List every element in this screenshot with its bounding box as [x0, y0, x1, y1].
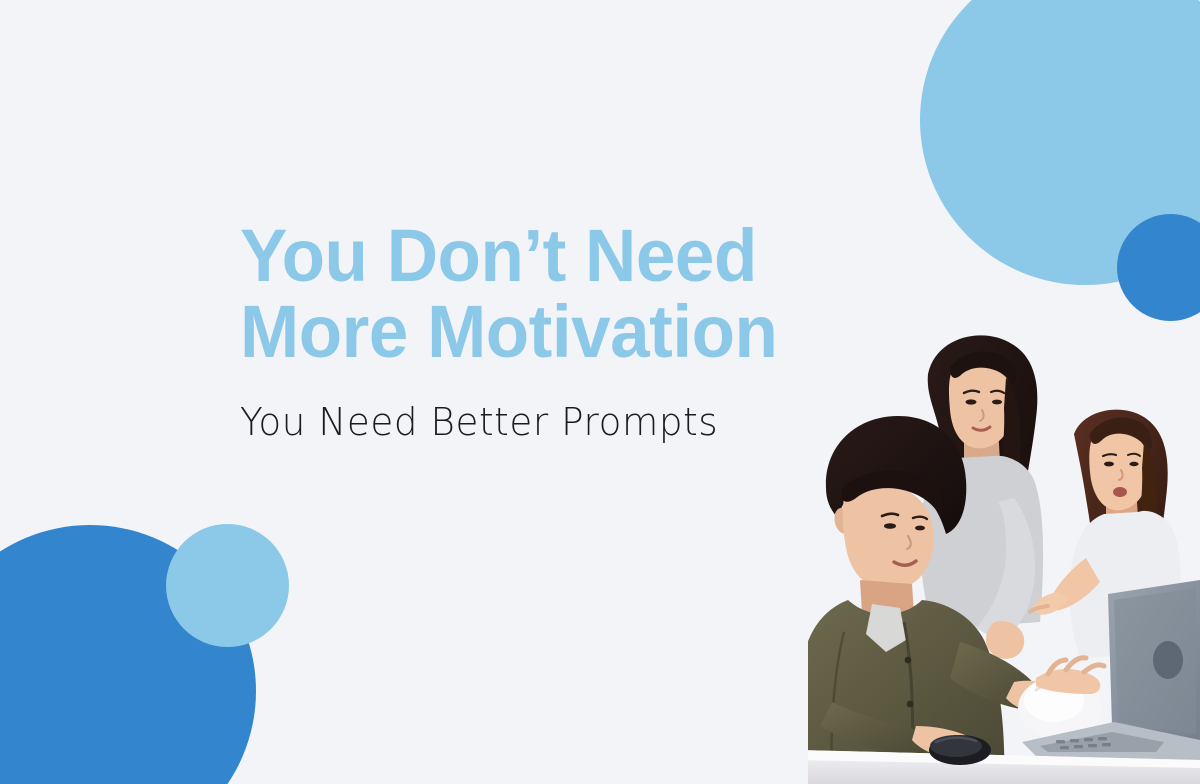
computer-mouse	[929, 735, 991, 765]
slide-canvas: You Don’t Need More Motivation You Need …	[0, 0, 1200, 784]
hands	[1036, 658, 1104, 694]
team-photo	[808, 322, 1200, 784]
circle-bottom-left-light-icon	[166, 524, 289, 647]
